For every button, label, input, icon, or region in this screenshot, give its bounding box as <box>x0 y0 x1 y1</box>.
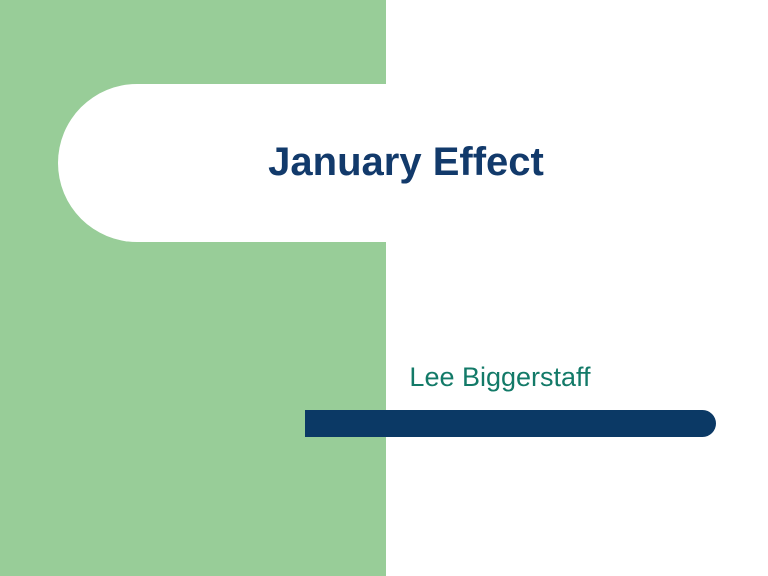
slide-title: January Effect <box>96 134 716 190</box>
slide-subtitle-author: Lee Biggerstaff <box>300 360 700 394</box>
accent-bar <box>305 410 716 437</box>
presentation-slide: January Effect Lee Biggerstaff <box>0 0 768 576</box>
